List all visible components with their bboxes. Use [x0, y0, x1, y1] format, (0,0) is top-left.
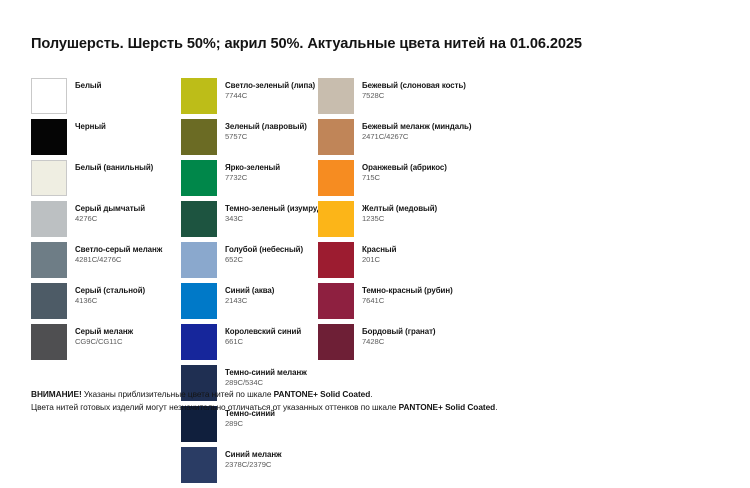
color-swatch — [31, 324, 67, 360]
swatch-name: Синий (аква) — [225, 287, 274, 296]
swatch-text: Красный201C — [362, 242, 396, 265]
swatch-columns: БелыйЧерныйБелый (ванильный)Серый дымчат… — [31, 78, 721, 488]
footer-line-1-text: Указаны приблизительные цвета нитей по ш… — [82, 389, 274, 399]
swatch-name: Синий меланж — [225, 451, 282, 460]
swatch-text: Синий меланж2378C/2379C — [225, 447, 282, 470]
color-swatch — [181, 201, 217, 237]
footer-line-2-brand: PANTONE+ Solid Coated — [399, 402, 496, 412]
color-swatch — [31, 242, 67, 278]
swatch-pantone-code: 7428C — [362, 338, 436, 347]
swatch-row: Белый (ванильный) — [31, 160, 181, 196]
swatch-name: Бордовый (гранат) — [362, 328, 436, 337]
swatch-name: Голубой (небесный) — [225, 246, 303, 255]
color-swatch — [181, 447, 217, 483]
swatch-row: Бежевый (слоновая кость)7528C — [318, 78, 578, 114]
swatch-name: Серый меланж — [75, 328, 133, 337]
swatch-pantone-code: 7528C — [362, 92, 466, 101]
swatch-name: Светло-серый меланж — [75, 246, 162, 255]
swatch-pantone-code: 4281C/4276C — [75, 256, 162, 265]
swatch-pantone-code: 4276C — [75, 215, 145, 224]
swatch-text: Белый — [75, 78, 101, 91]
swatch-pantone-code: 7744C — [225, 92, 315, 101]
swatch-text: Серый меланжCG9C/CG11C — [75, 324, 133, 347]
swatch-row: Синий (аква)2143C — [181, 283, 318, 319]
swatch-column-1: БелыйЧерныйБелый (ванильный)Серый дымчат… — [31, 78, 181, 365]
swatch-row: Голубой (небесный)652C — [181, 242, 318, 278]
footer-line-1: ВНИМАНИЕ! Указаны приблизительные цвета … — [31, 388, 721, 401]
swatch-text: Светло-серый меланж4281C/4276C — [75, 242, 162, 265]
swatch-name: Бежевый меланж (миндаль) — [362, 123, 471, 132]
swatch-name: Бежевый (слоновая кость) — [362, 82, 466, 91]
swatch-name: Белый — [75, 82, 101, 91]
color-swatch — [31, 119, 67, 155]
swatch-row: Красный201C — [318, 242, 578, 278]
swatch-row: Королевский синий661C — [181, 324, 318, 360]
swatch-pantone-code: 1235C — [362, 215, 437, 224]
swatch-name: Оранжевый (абрикос) — [362, 164, 447, 173]
swatch-text: Бордовый (гранат)7428C — [362, 324, 436, 347]
color-swatch — [181, 160, 217, 196]
color-swatch — [318, 201, 354, 237]
swatch-text: Королевский синий661C — [225, 324, 301, 347]
swatch-pantone-code: 5757C — [225, 133, 307, 142]
swatch-pantone-code: 4136C — [75, 297, 145, 306]
color-swatch — [181, 78, 217, 114]
swatch-text: Белый (ванильный) — [75, 160, 153, 173]
color-swatch — [318, 242, 354, 278]
swatch-pantone-code: 289C — [225, 420, 275, 429]
color-swatch — [318, 160, 354, 196]
color-swatch — [318, 78, 354, 114]
swatch-name: Желтый (медовый) — [362, 205, 437, 214]
swatch-text: Светло-зеленый (липа)7744C — [225, 78, 315, 101]
swatch-row: Серый (стальной)4136C — [31, 283, 181, 319]
swatch-pantone-code: CG9C/CG11C — [75, 338, 133, 347]
swatch-row: Белый — [31, 78, 181, 114]
swatch-name: Черный — [75, 123, 106, 132]
footer-line-2-text: Цвета нитей готовых изделий могут незнач… — [31, 402, 399, 412]
swatch-pantone-code: 201C — [362, 256, 396, 265]
swatch-row: Желтый (медовый)1235C — [318, 201, 578, 237]
color-swatch — [31, 78, 67, 114]
swatch-row: Синий меланж2378C/2379C — [181, 447, 318, 483]
swatch-text: Голубой (небесный)652C — [225, 242, 303, 265]
swatch-text: Бежевый (слоновая кость)7528C — [362, 78, 466, 101]
footer-line-1-end: . — [370, 389, 372, 399]
swatch-pantone-code: 7641C — [362, 297, 453, 306]
swatch-text: Желтый (медовый)1235C — [362, 201, 437, 224]
swatch-text: Ярко-зеленый7732C — [225, 160, 280, 183]
swatch-name: Красный — [362, 246, 396, 255]
footer-line-2-end: . — [495, 402, 497, 412]
swatch-pantone-code: 661C — [225, 338, 301, 347]
page-title: Полушерсть. Шерсть 50%; акрил 50%. Актуа… — [31, 36, 582, 52]
swatch-pantone-code: 2471C/4267C — [362, 133, 471, 142]
footer-attention-label: ВНИМАНИЕ! — [31, 389, 82, 399]
swatch-row: Ярко-зеленый7732C — [181, 160, 318, 196]
color-swatch — [181, 324, 217, 360]
swatch-text: Темно-синий меланж289C/534C — [225, 365, 307, 388]
color-swatch — [318, 119, 354, 155]
swatch-name: Серый дымчатый — [75, 205, 145, 214]
swatch-pantone-code: 7732C — [225, 174, 280, 183]
footer-line-1-brand: PANTONE+ Solid Coated — [274, 389, 371, 399]
swatch-text: Темно-красный (рубин)7641C — [362, 283, 453, 306]
swatch-text: Темно-зеленый (изумруд)343C — [225, 201, 325, 224]
swatch-row: Темно-красный (рубин)7641C — [318, 283, 578, 319]
swatch-row: Темно-зеленый (изумруд)343C — [181, 201, 318, 237]
color-chart-page: Полушерсть. Шерсть 50%; акрил 50%. Актуа… — [0, 0, 750, 457]
color-swatch — [318, 324, 354, 360]
swatch-text: Оранжевый (абрикос)715C — [362, 160, 447, 183]
swatch-pantone-code: 343C — [225, 215, 325, 224]
color-swatch — [31, 160, 67, 196]
swatch-row: Светло-зеленый (липа)7744C — [181, 78, 318, 114]
swatch-row: Черный — [31, 119, 181, 155]
swatch-name: Серый (стальной) — [75, 287, 145, 296]
color-swatch — [181, 283, 217, 319]
swatch-name: Темно-зеленый (изумруд) — [225, 205, 325, 214]
swatch-name: Ярко-зеленый — [225, 164, 280, 173]
swatch-row: Бордовый (гранат)7428C — [318, 324, 578, 360]
swatch-name: Темно-синий меланж — [225, 369, 307, 378]
swatch-text: Зеленый (лавровый)5757C — [225, 119, 307, 142]
swatch-row: Оранжевый (абрикос)715C — [318, 160, 578, 196]
swatch-text: Бежевый меланж (миндаль)2471C/4267C — [362, 119, 471, 142]
swatch-pantone-code: 289C/534C — [225, 379, 307, 388]
swatch-pantone-code: 715C — [362, 174, 447, 183]
swatch-column-2: Светло-зеленый (липа)7744CЗеленый (лавро… — [181, 78, 318, 488]
swatch-text: Черный — [75, 119, 106, 132]
swatch-name: Светло-зеленый (липа) — [225, 82, 315, 91]
footer-notes: ВНИМАНИЕ! Указаны приблизительные цвета … — [31, 388, 721, 414]
color-swatch — [181, 242, 217, 278]
swatch-text: Серый дымчатый4276C — [75, 201, 145, 224]
color-swatch — [31, 201, 67, 237]
swatch-name: Темно-красный (рубин) — [362, 287, 453, 296]
swatch-row: Бежевый меланж (миндаль)2471C/4267C — [318, 119, 578, 155]
color-swatch — [318, 283, 354, 319]
swatch-name: Королевский синий — [225, 328, 301, 337]
swatch-name: Белый (ванильный) — [75, 164, 153, 173]
swatch-row: Серый дымчатый4276C — [31, 201, 181, 237]
swatch-text: Синий (аква)2143C — [225, 283, 274, 306]
swatch-text: Серый (стальной)4136C — [75, 283, 145, 306]
swatch-row: Светло-серый меланж4281C/4276C — [31, 242, 181, 278]
footer-line-2: Цвета нитей готовых изделий могут незнач… — [31, 401, 721, 414]
color-swatch — [181, 119, 217, 155]
swatch-column-3: Бежевый (слоновая кость)7528CБежевый мел… — [318, 78, 578, 365]
color-swatch — [31, 283, 67, 319]
swatch-pantone-code: 2378C/2379C — [225, 461, 282, 470]
swatch-name: Зеленый (лавровый) — [225, 123, 307, 132]
swatch-pantone-code: 2143C — [225, 297, 274, 306]
swatch-row: Серый меланжCG9C/CG11C — [31, 324, 181, 360]
swatch-pantone-code: 652C — [225, 256, 303, 265]
swatch-row: Зеленый (лавровый)5757C — [181, 119, 318, 155]
